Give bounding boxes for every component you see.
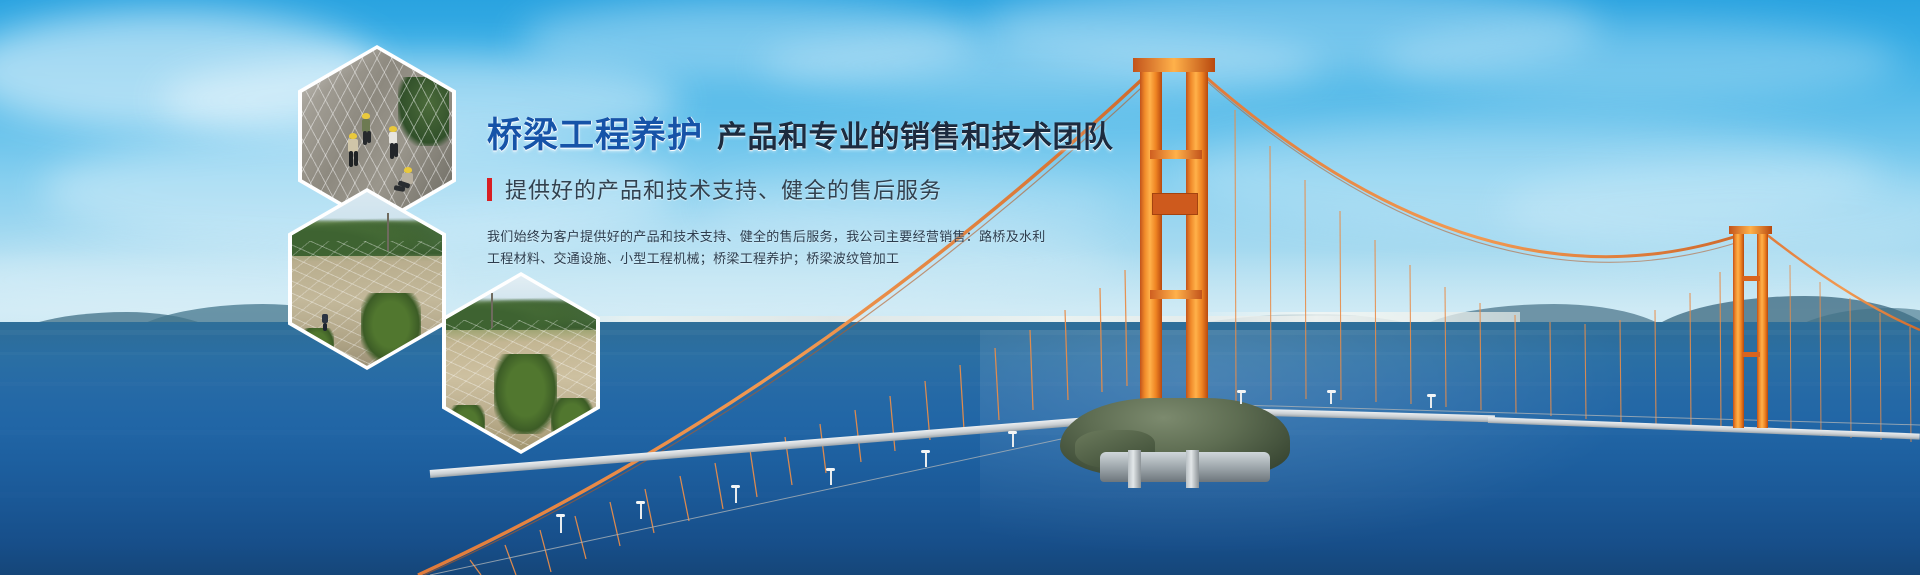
banner-body-text: 我们始终为客户提供好的产品和技术支持、健全的售后服务，我公司主要经营销售：路桥及…: [487, 226, 1007, 270]
banner-text-block: 桥梁工程养护产品和专业的销售和技术团队 提供好的产品和技术支持、健全的售后服务 …: [487, 118, 1007, 270]
bridge-tower-crossbeam: [1742, 276, 1760, 281]
headline-secondary: 产品和专业的销售和技术团队: [717, 121, 1114, 154]
tree: [494, 354, 557, 434]
hex-photo-2: [292, 192, 442, 366]
hex-image-roadside-embankment-netting: [442, 272, 600, 454]
tree: [361, 293, 421, 363]
bridge-tower-crown: [1133, 58, 1215, 72]
bridge-tower-crossbeam: [1150, 290, 1202, 299]
body-line: 我们始终为客户提供好的产品和技术支持、健全的售后服务，我公司主要经营销售：路桥及…: [487, 226, 1007, 248]
bridge-pier-base: [1100, 452, 1270, 482]
shrub: [301, 328, 334, 366]
bridge-pier-column: [1186, 450, 1199, 488]
banner-subheading-row: 提供好的产品和技术支持、健全的售后服务: [487, 173, 1007, 205]
banner-headline: 桥梁工程养护产品和专业的销售和技术团队: [487, 118, 1007, 153]
hex-photo-3: [446, 276, 596, 450]
bridge-tower-right-leg: [1186, 60, 1208, 420]
shrub: [551, 398, 593, 447]
bridge-pier-column: [1128, 450, 1141, 488]
shrub: [449, 405, 485, 447]
body-line: 工程材料、交通设施、小型工程机械；桥梁工程养护；桥梁波纹管加工: [487, 248, 1007, 270]
headline-primary: 桥梁工程养护: [487, 116, 703, 155]
bridge-tower-left-leg: [1140, 60, 1162, 420]
bridge-tower-left-leg: [1733, 228, 1744, 428]
bridge-tower-plaque: [1152, 193, 1198, 215]
bridge-tower-crossbeam: [1150, 150, 1202, 159]
hero-banner: 桥梁工程养护产品和专业的销售和技术团队 提供好的产品和技术支持、健全的售后服务 …: [0, 0, 1920, 575]
banner-subheading: 提供好的产品和技术支持、健全的售后服务: [505, 173, 942, 205]
bridge-tower-crossbeam: [1742, 352, 1760, 357]
red-accent-bar: [487, 178, 492, 201]
bridge-tower-crown: [1729, 226, 1772, 234]
hex-image-hillside-slope-netting: [288, 188, 446, 370]
bridge-tower-right-leg: [1757, 228, 1768, 428]
